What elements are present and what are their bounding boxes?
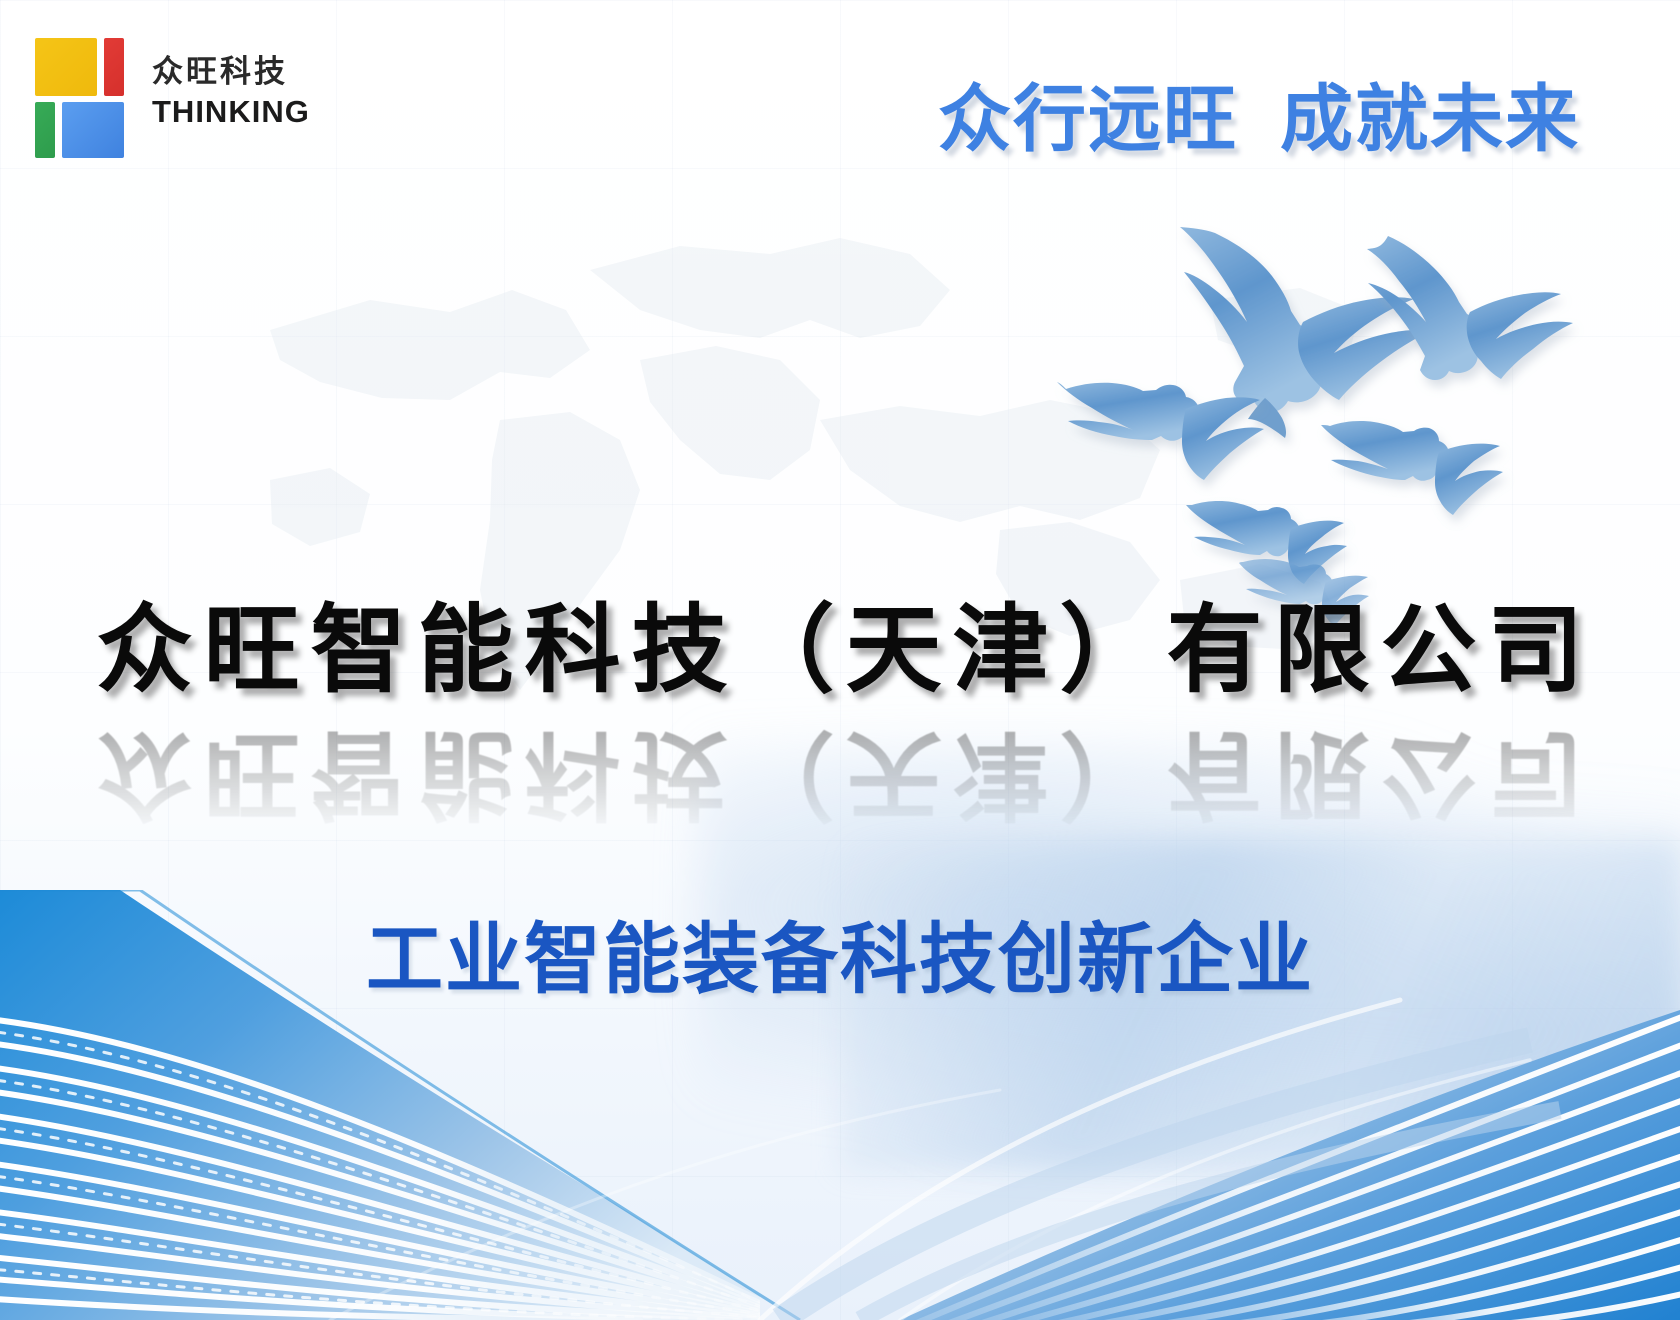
- main-title-block: 众旺智能科技（天津）有限公司 众旺智能科技（天津）有限公司: [0, 572, 1680, 852]
- company-subtitle: 工业智能装备科技创新企业: [0, 898, 1680, 1009]
- seagull-upper-right-icon: [1367, 236, 1573, 380]
- title-slide: 众旺科技 THINKING 众行远旺成就未来: [0, 0, 1680, 1320]
- seagull-mid-left-icon: [1057, 382, 1264, 480]
- company-title: 众旺智能科技（天津）有限公司: [0, 572, 1680, 711]
- company-title-reflection: 众旺智能科技（天津）有限公司: [0, 713, 1680, 852]
- seagull-small-right-icon: [1321, 421, 1503, 515]
